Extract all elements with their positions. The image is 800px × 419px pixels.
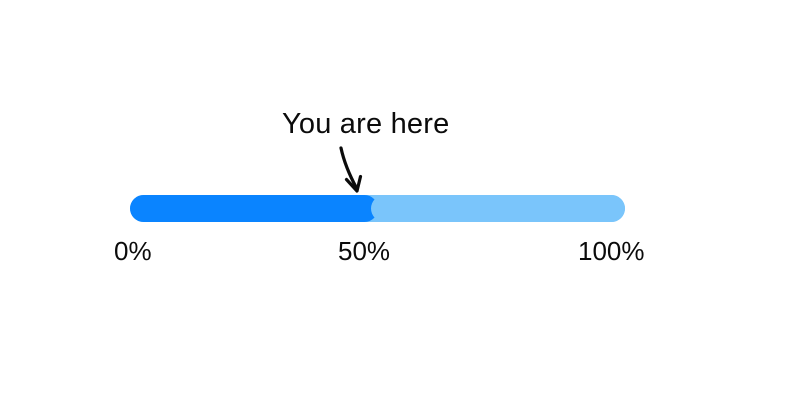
down-arrow-icon [325, 140, 385, 200]
axis-label-50: 50% [338, 238, 390, 264]
progress-infographic: You are here 0% 50% 100% [0, 0, 800, 419]
annotation-label: You are here [282, 110, 449, 139]
axis-label-0: 0% [114, 238, 152, 264]
progress-bar-track[interactable] [130, 195, 625, 222]
progress-bar-remainder [371, 195, 626, 222]
progress-bar-fill [130, 195, 378, 222]
axis-label-100: 100% [578, 238, 645, 264]
